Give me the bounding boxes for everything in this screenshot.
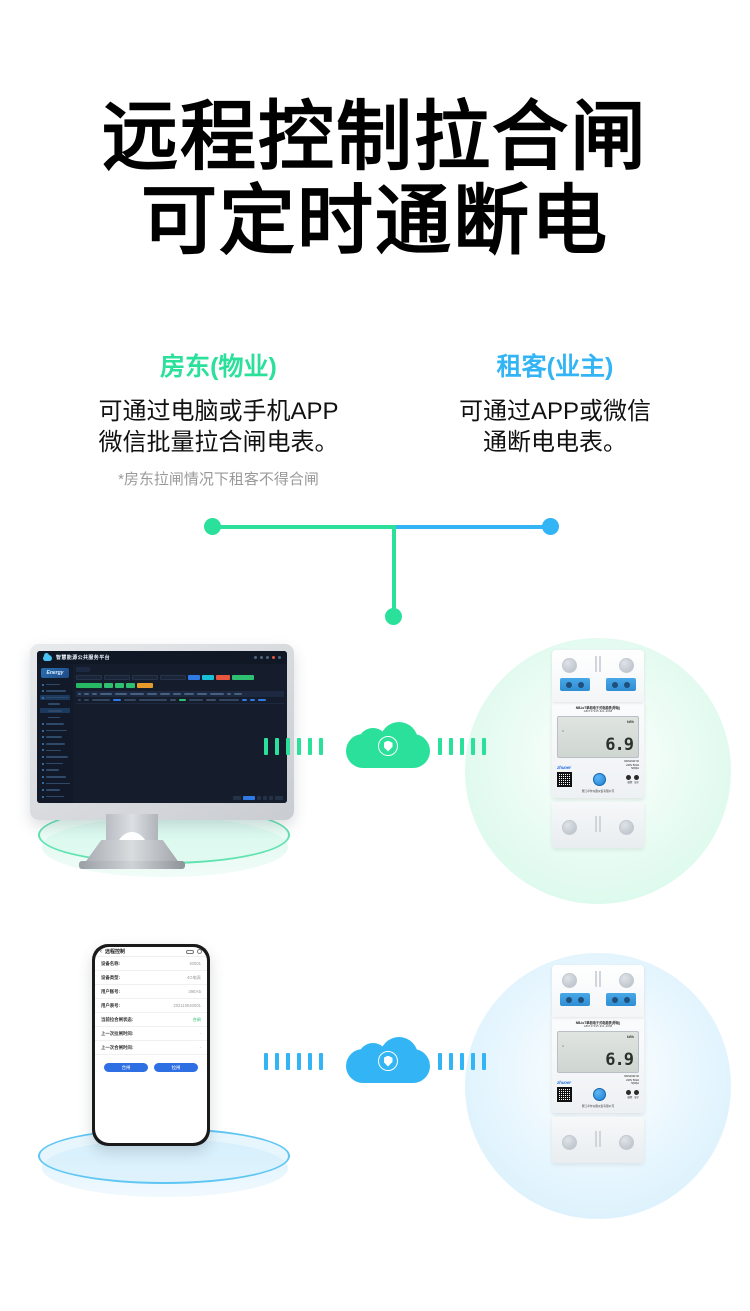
connector-line-green bbox=[212, 525, 394, 529]
screw-icon bbox=[619, 1135, 634, 1150]
row-label: 设备类型: bbox=[101, 975, 120, 981]
sidebar-item[interactable] bbox=[40, 735, 70, 740]
meter-brand: zhuoer bbox=[557, 765, 571, 770]
row-value: 4G电表 bbox=[187, 975, 201, 981]
lcd-value: 6.9 bbox=[605, 1052, 633, 1069]
user-avatar-icon[interactable] bbox=[278, 656, 281, 659]
screw-icon bbox=[619, 973, 634, 988]
terminal-block-left bbox=[560, 678, 590, 691]
display-button-label: 显示 bbox=[634, 1095, 639, 1099]
sidebar-item[interactable] bbox=[40, 794, 70, 799]
filter-select[interactable] bbox=[104, 675, 130, 680]
connector-dot-bottom bbox=[385, 608, 402, 625]
lcd-unit: kWh bbox=[627, 720, 634, 724]
dashboard-sidebar[interactable]: Energy bbox=[37, 664, 73, 803]
nav-dot-icon bbox=[42, 690, 44, 692]
sidebar-item[interactable] bbox=[40, 755, 70, 760]
connector-dot-right bbox=[542, 518, 559, 535]
help-icon[interactable] bbox=[266, 656, 269, 659]
meter-company: 浙江卓尔仪器仪表有限公司 bbox=[557, 1104, 639, 1108]
signal-ticks-right bbox=[438, 738, 486, 755]
nav-dot-icon bbox=[42, 776, 44, 778]
program-button-label: 编程 bbox=[627, 1095, 632, 1099]
phone-header-actions bbox=[186, 949, 202, 954]
meter-face: NB-IoT单相电子式电能表(导轨) GB/T17215.321-2008 kW… bbox=[552, 1017, 644, 1113]
headline-line-2: 可定时通断电 bbox=[0, 180, 750, 264]
list-item: 设备类型: 4G电表 bbox=[95, 971, 207, 985]
cloud-link-green bbox=[258, 714, 518, 780]
meter-label-line-2: GB/T17215.321-2008 bbox=[557, 1025, 639, 1028]
signal-ticks-left bbox=[264, 1053, 323, 1070]
dashboard-title: 智慧能源公共服务平台 bbox=[56, 654, 110, 661]
status-badge: 合闸 bbox=[193, 1017, 201, 1023]
sidebar-item[interactable] bbox=[40, 741, 70, 746]
filter-button-export[interactable] bbox=[232, 675, 254, 680]
meter-company: 浙江卓尔仪器仪表有限公司 bbox=[557, 789, 639, 793]
landlord-note: *房东拉闸情况下租客不得合闸 bbox=[46, 468, 391, 489]
sidebar-item[interactable] bbox=[40, 728, 70, 733]
dashboard-topbar: 智慧能源公共服务平台 bbox=[37, 651, 287, 664]
meter-bottom-cap bbox=[552, 1117, 644, 1163]
nav-dot-icon bbox=[42, 730, 44, 732]
sidebar-item-active[interactable] bbox=[40, 695, 70, 700]
meter-top-cap bbox=[552, 650, 644, 702]
din-slot-icon bbox=[594, 971, 602, 987]
din-slot-icon bbox=[594, 656, 602, 672]
meter-small-buttons: 编程 显示 bbox=[626, 1090, 639, 1099]
list-item: 设备名称: 40001 bbox=[95, 957, 207, 971]
page-headline: 远程控制拉合闸 可定时通断电 bbox=[0, 96, 750, 264]
meter-model-line-3: 5(60)A bbox=[624, 767, 639, 770]
tenant-body-line-1: 可通过APP或微信 bbox=[400, 396, 710, 427]
cloud-icon bbox=[346, 1037, 430, 1083]
sidebar-item[interactable] bbox=[40, 761, 70, 766]
sidebar-item[interactable] bbox=[40, 682, 70, 687]
lcd-value: 6.9 bbox=[605, 737, 633, 754]
nav-dot-icon bbox=[42, 763, 44, 765]
sidebar-item[interactable] bbox=[40, 788, 70, 793]
qr-code-icon bbox=[557, 1087, 572, 1102]
tenant-title: 租客(业主) bbox=[400, 350, 710, 384]
qr-code-icon bbox=[557, 772, 572, 787]
filter-button-reset[interactable] bbox=[202, 675, 214, 680]
nav-dot-icon bbox=[42, 743, 44, 745]
sidebar-item[interactable] bbox=[40, 722, 70, 727]
nav-dot-icon bbox=[42, 723, 44, 725]
dashboard-body: Energy bbox=[37, 664, 287, 803]
electric-meter-bottom: NB-IoT单相电子式电能表(导轨) GB/T17215.321-2008 kW… bbox=[552, 965, 644, 1163]
landlord-body-line-2: 微信批量拉合闸电表。 bbox=[46, 427, 391, 458]
connector-line-blue bbox=[394, 525, 550, 529]
screw-icon bbox=[562, 1135, 577, 1150]
screw-icon bbox=[562, 658, 577, 673]
monitor-screen: 智慧能源公共服务平台 Energy bbox=[37, 651, 287, 803]
nav-dot-icon bbox=[42, 789, 44, 791]
row-value: 39EA5 bbox=[188, 989, 201, 994]
screw-icon bbox=[619, 820, 634, 835]
din-slot-icon bbox=[594, 1131, 602, 1147]
phone-page-title: 远程控制 bbox=[105, 948, 125, 955]
filter-button-delete[interactable] bbox=[216, 675, 230, 680]
more-icon[interactable] bbox=[186, 950, 194, 954]
column-tenant: 租客(业主) 可通过APP或微信 通断电电表。 bbox=[400, 350, 710, 458]
meter-control-row: 编程 显示 bbox=[557, 772, 639, 787]
meter-brand: zhuoer bbox=[557, 1080, 571, 1085]
monitor-foot bbox=[79, 861, 185, 869]
program-button-label: 编程 bbox=[627, 780, 632, 784]
tab-item[interactable] bbox=[76, 667, 90, 672]
meter-top-cap bbox=[552, 965, 644, 1017]
screw-icon bbox=[562, 820, 577, 835]
meter-main-button[interactable] bbox=[593, 1088, 606, 1101]
row-value: 202110040001 bbox=[173, 1003, 201, 1008]
tenant-body-line-2: 通断电电表。 bbox=[400, 427, 710, 458]
cloud-icon bbox=[346, 722, 430, 768]
phone-header: ‹ 远程控制 bbox=[95, 947, 207, 957]
row-label: 设备名称: bbox=[101, 961, 120, 967]
lcd-signal-icon: ⌂ bbox=[562, 1044, 564, 1048]
phone-form-rows: 设备名称: 40001 设备类型: 4G电表 用户账号: 39EA5 用户表号:… bbox=[95, 957, 207, 1055]
shield-icon bbox=[378, 1051, 398, 1071]
row-value: - bbox=[200, 1031, 201, 1036]
dashboard-topbar-icons[interactable] bbox=[254, 656, 281, 659]
meter-model-block: DDS1911YD 220V 50Hz 5(60)A bbox=[624, 760, 639, 770]
filter-select[interactable] bbox=[160, 675, 186, 680]
meter-model-block: DDS1911YD 220V 50Hz 5(60)A bbox=[624, 1075, 639, 1085]
row-label: 当前拉合闸状态: bbox=[101, 1017, 133, 1023]
signal-ticks-left bbox=[264, 738, 323, 755]
action-button-a[interactable] bbox=[104, 683, 113, 688]
meter-face: NB-IoT单相电子式电能表(导轨) GB/T17215.321-2008 kW… bbox=[552, 702, 644, 798]
nav-dot-icon bbox=[42, 749, 44, 751]
dashboard-action-bar[interactable] bbox=[76, 683, 284, 688]
meter-control-row: 编程 显示 bbox=[557, 1087, 639, 1102]
row-label: 用户表号: bbox=[101, 1003, 120, 1009]
terminal-block-right bbox=[606, 993, 636, 1006]
cloud-logo-icon bbox=[43, 655, 52, 661]
nav-dot-icon bbox=[42, 769, 44, 771]
filter-button-query[interactable] bbox=[188, 675, 200, 680]
sidebar-item[interactable] bbox=[40, 781, 70, 786]
list-item: 上一次拉闸时间: - bbox=[95, 1027, 207, 1041]
sidebar-item[interactable] bbox=[40, 774, 70, 779]
row-value: - bbox=[200, 1045, 201, 1050]
meter-lcd-display: kWh ⌂ 6.9 bbox=[557, 716, 639, 758]
table-pagination[interactable] bbox=[233, 796, 283, 800]
cloud-link-blue bbox=[258, 1029, 518, 1095]
list-item: 用户表号: 202110040001 bbox=[95, 999, 207, 1013]
terminal-block-right bbox=[606, 678, 636, 691]
meter-lcd-display: kWh ⌂ 6.9 bbox=[557, 1031, 639, 1073]
row-label: 用户账号: bbox=[101, 989, 120, 995]
meter-small-buttons: 编程 显示 bbox=[626, 775, 639, 784]
action-button-batch[interactable] bbox=[76, 683, 102, 688]
dashboard-main bbox=[73, 664, 287, 803]
list-item: 当前拉合闸状态: 合闸 bbox=[95, 1013, 207, 1027]
screw-icon bbox=[619, 658, 634, 673]
sidebar-item[interactable] bbox=[40, 768, 70, 773]
sidebar-item[interactable] bbox=[40, 689, 70, 694]
sidebar-item[interactable] bbox=[40, 748, 70, 753]
dashboard-tabs[interactable] bbox=[76, 667, 284, 672]
meter-label-line-2: GB/T17215.321-2008 bbox=[557, 710, 639, 713]
nav-dot-icon bbox=[42, 756, 44, 758]
meter-brand-row: zhuoer DDS1911YD 220V 50Hz 5(60)A bbox=[557, 1075, 639, 1085]
nav-dot-icon bbox=[42, 796, 44, 798]
meter-model-line-3: 5(60)A bbox=[624, 1082, 639, 1085]
filter-select[interactable] bbox=[76, 675, 102, 680]
nav-dot-icon bbox=[42, 684, 44, 686]
monitor-frame: 智慧能源公共服务平台 Energy bbox=[30, 644, 294, 820]
phone-action-buttons: 合闸 拉闸 bbox=[95, 1063, 207, 1072]
row-label: 上一次拉闸时间: bbox=[101, 1031, 133, 1037]
sidebar-subitem[interactable] bbox=[40, 702, 70, 707]
sidebar-subitem-active[interactable] bbox=[40, 708, 70, 713]
phone-screen: ‹ 远程控制 设备名称: 40001 设备类型: 4G电表 用户账号: 39EA… bbox=[95, 947, 207, 1143]
din-slot-icon bbox=[594, 816, 602, 832]
meter-main-button[interactable] bbox=[593, 773, 606, 786]
screw-icon bbox=[562, 973, 577, 988]
connector-dot-left bbox=[204, 518, 221, 535]
sidebar-logo: Energy bbox=[41, 668, 69, 678]
close-breaker-button[interactable]: 合闸 bbox=[104, 1063, 148, 1072]
bell-icon[interactable] bbox=[254, 656, 257, 659]
filter-select[interactable] bbox=[132, 675, 158, 680]
open-breaker-button[interactable]: 拉闸 bbox=[154, 1063, 198, 1072]
table-row[interactable] bbox=[76, 697, 284, 704]
meter-brand-row: zhuoer DDS1911YD 220V 50Hz 5(60)A bbox=[557, 760, 639, 770]
alert-icon[interactable] bbox=[272, 656, 275, 659]
lcd-unit: kWh bbox=[627, 1035, 634, 1039]
landlord-title: 房东(物业) bbox=[46, 350, 391, 384]
landlord-body-line-1: 可通过电脑或手机APP bbox=[46, 396, 391, 427]
headline-line-1: 远程控制拉合闸 bbox=[0, 96, 750, 180]
electric-meter-top: NB-IoT单相电子式电能表(导轨) GB/T17215.321-2008 kW… bbox=[552, 650, 644, 848]
action-button-b[interactable] bbox=[115, 683, 124, 688]
column-landlord: 房东(物业) 可通过电脑或手机APP 微信批量拉合闸电表。 *房东拉闸情况下租客… bbox=[46, 350, 391, 489]
terminal-block-left bbox=[560, 993, 590, 1006]
shield-icon bbox=[378, 736, 398, 756]
smartphone: ‹ 远程控制 设备名称: 40001 设备类型: 4G电表 用户账号: 39EA… bbox=[92, 944, 210, 1146]
lcd-signal-icon: ⌂ bbox=[562, 729, 564, 733]
sidebar-subitem[interactable] bbox=[40, 715, 70, 720]
close-circle-icon[interactable] bbox=[197, 949, 202, 954]
mail-icon[interactable] bbox=[260, 656, 263, 659]
desktop-monitor: 智慧能源公共服务平台 Energy bbox=[30, 644, 294, 820]
meter-bottom-cap bbox=[552, 802, 644, 848]
nav-dot-icon bbox=[42, 782, 44, 784]
list-item: 用户账号: 39EA5 bbox=[95, 985, 207, 999]
nav-dot-icon bbox=[42, 697, 44, 699]
list-item: 上一次合闸时间: - bbox=[95, 1041, 207, 1055]
nav-dot-icon bbox=[42, 736, 44, 738]
dashboard-ui: 智慧能源公共服务平台 Energy bbox=[37, 651, 287, 803]
connector-stem bbox=[392, 525, 396, 615]
dashboard-filter-bar[interactable] bbox=[76, 675, 284, 680]
display-button-label: 显示 bbox=[634, 780, 639, 784]
row-label: 上一次合闸时间: bbox=[101, 1045, 133, 1051]
row-value: 40001 bbox=[189, 961, 201, 966]
action-button-warn[interactable] bbox=[137, 683, 153, 688]
action-button-c[interactable] bbox=[126, 683, 135, 688]
signal-ticks-right bbox=[438, 1053, 486, 1070]
back-arrow-icon[interactable]: ‹ bbox=[100, 949, 102, 955]
